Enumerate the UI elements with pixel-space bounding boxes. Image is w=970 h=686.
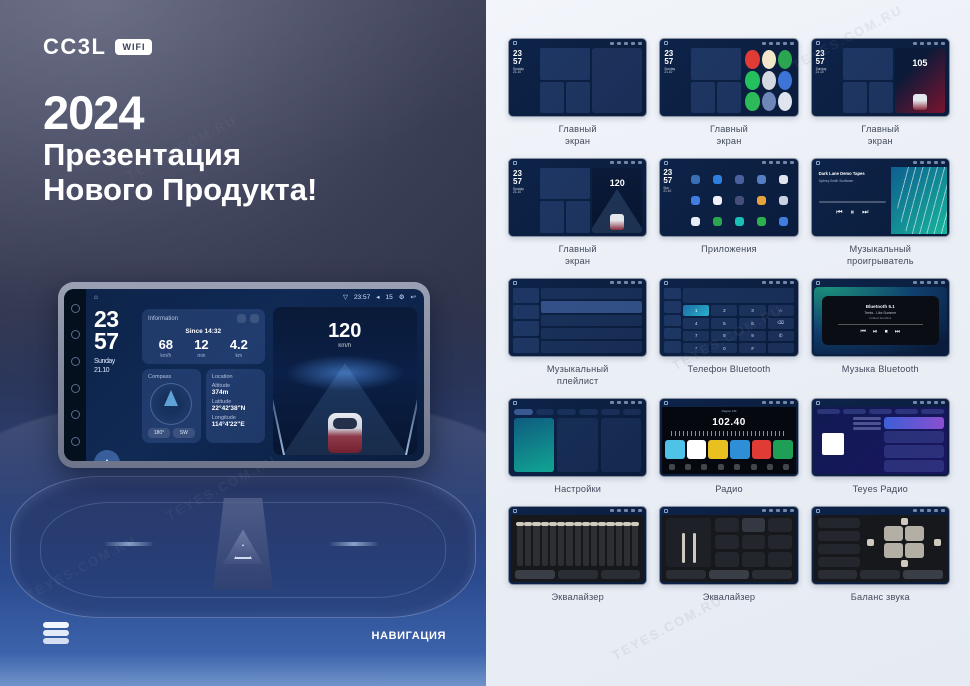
- thumb-status-bar: [509, 399, 646, 407]
- stop-icon[interactable]: ⏹: [885, 329, 888, 336]
- app-icon-google[interactable]: [685, 212, 706, 232]
- key-1[interactable]: 1: [683, 305, 709, 316]
- thumbnail-sound-balance[interactable]: [811, 506, 950, 585]
- track-meta: [853, 417, 881, 472]
- app-icon-clock[interactable]: [707, 190, 728, 210]
- hero-panel: ⌂ ▽ 23:57 ◂ 15 ⚙ ↩ 23 57: [0, 0, 486, 686]
- key-7[interactable]: 7: [683, 331, 709, 342]
- app-icon-filemanager[interactable]: [751, 190, 772, 210]
- app-icon-chrome[interactable]: [685, 190, 706, 210]
- gallery-item[interactable]: Dark Lane Demo Tapes Sydney Smith Sunflo…: [811, 158, 950, 268]
- gallery-caption: Главныйэкран: [559, 244, 597, 268]
- eq-preset-buttons[interactable]: [515, 570, 640, 579]
- rail-button-mute-icon[interactable]: [71, 304, 80, 313]
- gallery-item[interactable]: 2357Sunday21.10 105 Главныйэкран: [811, 38, 950, 148]
- call-icon[interactable]: ✆: [768, 331, 794, 342]
- gallery-item[interactable]: Эквалайзер: [508, 506, 647, 604]
- hero-headline: Презентация Нового Продукта!: [43, 137, 317, 207]
- backspace-icon[interactable]: ⌫: [768, 318, 794, 329]
- carplay-tile[interactable]: [557, 418, 597, 472]
- dial-keypad[interactable]: 123☆ 456⌫ 789✆ *0#: [683, 305, 794, 352]
- speed-unit: km/h: [273, 343, 417, 349]
- preset-stations[interactable]: [665, 440, 792, 460]
- clock-date: 21.10: [94, 367, 109, 374]
- app-icon-radio[interactable]: [773, 212, 794, 232]
- eq-tab-1[interactable]: [666, 570, 706, 579]
- settings-tabs[interactable]: [514, 409, 641, 415]
- tuning-scale[interactable]: [671, 431, 786, 436]
- thumb-speed: 120: [592, 178, 642, 188]
- radio-dock[interactable]: [665, 462, 792, 472]
- metric-speed: 68km/h: [159, 338, 173, 359]
- presentation-slide: ⌂ ▽ 23:57 ◂ 15 ⚙ ↩ 23 57: [0, 0, 970, 686]
- arrow-left-icon[interactable]: [867, 539, 874, 546]
- star-icon[interactable]: ☆: [768, 305, 794, 316]
- thumb-status-bar: [812, 159, 949, 167]
- thumbnail-apps[interactable]: 2357Sun21.10: [659, 158, 798, 237]
- thumbnail-bluetooth-phone[interactable]: 123☆ 456⌫ 789✆ *0#: [659, 278, 798, 357]
- thumb-status-bar: [660, 399, 797, 407]
- app-icon-playstore[interactable]: [751, 212, 772, 232]
- thumb-status-bar: [660, 507, 797, 515]
- ego-vehicle-icon: [328, 413, 362, 453]
- bt-subtitle: Coldest Sunshine: [869, 316, 891, 320]
- thumb-clock: 2357Sunday21.10: [664, 48, 689, 113]
- playlist-sidebar[interactable]: [513, 288, 539, 353]
- balance-tab-1[interactable]: [818, 570, 858, 579]
- thumbnail-radio[interactable]: Region FM 102.40: [659, 398, 798, 477]
- track-title: Dark Lane Demo Tapes: [819, 171, 886, 176]
- gallery-item[interactable]: Teyes Радио: [811, 398, 950, 496]
- gallery-item[interactable]: 2357Sunday21.10 Главныйэкран: [508, 38, 647, 148]
- screenshot-gallery: 2357Sunday21.10 Главныйэкран 2357Sunday2…: [486, 0, 970, 686]
- eq-mode-buttons[interactable]: [715, 518, 791, 567]
- thumb-status-bar: [509, 39, 646, 47]
- eq-tab-2[interactable]: [709, 570, 749, 579]
- dial-display[interactable]: [683, 288, 794, 304]
- next-icon[interactable]: ⏭: [895, 329, 900, 336]
- gallery-caption: Настройки: [554, 484, 601, 496]
- eq-band-sliders[interactable]: [515, 518, 640, 570]
- key-3[interactable]: 3: [739, 305, 765, 316]
- key-6[interactable]: 6: [739, 318, 765, 329]
- thumb-clock: 2357Sunday21.10: [513, 48, 538, 113]
- gallery-item[interactable]: Баланс звука: [811, 506, 950, 604]
- app-icon-bluetooth[interactable]: [707, 169, 728, 189]
- home-left-column: 23 57 Sunday 21.10 Information: [86, 289, 269, 461]
- gallery-caption: Teyes Радио: [853, 484, 908, 496]
- app-icon-music[interactable]: [729, 212, 750, 232]
- thumbnail-home-drive[interactable]: 2357Sunday21.10 120: [508, 158, 647, 237]
- gallery-caption: Эквалайзер: [703, 592, 755, 604]
- clock-minutes: 57: [94, 331, 138, 353]
- head-unit-screen: ⌂ ▽ 23:57 ◂ 15 ⚙ ↩ 23 57: [64, 289, 424, 461]
- visualizer: [891, 167, 947, 234]
- thumbnail-music-player[interactable]: Dark Lane Demo Tapes Sydney Smith Sunflo…: [811, 158, 950, 237]
- refresh-icon[interactable]: [237, 314, 246, 323]
- thumb-clock: 2357Sun21.10: [663, 167, 684, 234]
- gallery-caption: Музыка Bluetooth: [842, 364, 919, 376]
- arrow-down-icon[interactable]: [901, 560, 908, 567]
- compass-dial: [150, 383, 192, 425]
- hero-year: 2024: [43, 85, 144, 140]
- gallery-caption: Телефон Bluetooth: [688, 364, 771, 376]
- since-label: Since 14:32: [148, 328, 259, 335]
- settings-tiles[interactable]: [514, 418, 641, 472]
- play-pause-icon[interactable]: ⏯: [873, 329, 878, 336]
- gallery-item[interactable]: 123☆ 456⌫ 789✆ *0# Телефон Bluetooth: [659, 278, 798, 388]
- station-list[interactable]: [884, 417, 944, 472]
- longitude-row: Longitude 114°4'22"E: [212, 415, 259, 428]
- information-card[interactable]: Information Since 14:32 68km/h 12min 4.2…: [142, 309, 265, 364]
- rail-button-volume-up-icon[interactable]: [71, 437, 80, 446]
- product-logo: CC3L WIFI: [43, 34, 152, 60]
- thumbnail-settings[interactable]: [508, 398, 647, 477]
- speed-value: 120: [273, 321, 417, 341]
- vent-slat: [330, 542, 378, 546]
- gallery-caption: Музыкальныйплейлист: [547, 364, 609, 388]
- gallery-caption: Музыкальныйпроигрыватель: [847, 244, 914, 268]
- key-8[interactable]: 8: [711, 331, 737, 342]
- progress-bar[interactable]: [819, 201, 886, 203]
- next-icon[interactable]: ⏭: [862, 209, 868, 217]
- home-right-column: 120 km/h: [269, 289, 424, 461]
- thumb-status-bar: [509, 279, 646, 287]
- clock-widget: 23 57 Sunday 21.10: [94, 309, 138, 376]
- gallery-item[interactable]: 2357Sunday21.10 120 Главныйэкран: [508, 158, 647, 268]
- gallery-caption: Радио: [715, 484, 743, 496]
- rail-button-home-icon[interactable]: [71, 357, 80, 366]
- compass-direction: SW: [173, 428, 195, 438]
- radio-frequency: 102.40: [665, 417, 792, 428]
- gallery-item[interactable]: Эквалайзер: [659, 506, 798, 604]
- playlist-rows[interactable]: [541, 288, 642, 353]
- balance-tab-2[interactable]: [860, 570, 900, 579]
- metric-distance: 4.2km: [230, 338, 248, 359]
- playback-controls[interactable]: ⏮ ⏸ ⏭: [819, 209, 886, 217]
- thumb-clock: 2357Sunday21.10: [513, 168, 538, 233]
- compass-card[interactable]: Compass 180° SW: [142, 369, 201, 443]
- more-tile[interactable]: [601, 418, 641, 472]
- thumb-speed: 105: [895, 58, 945, 68]
- thumbnail-home-drive-red[interactable]: 2357Sunday21.10 105: [811, 38, 950, 117]
- head-unit-device: ⌂ ▽ 23:57 ◂ 15 ⚙ ↩ 23 57: [58, 282, 430, 468]
- thumb-app-drawer: [743, 48, 793, 113]
- thumbnail-home-media[interactable]: 2357Sunday21.10: [508, 38, 647, 117]
- gallery-item[interactable]: Настройки: [508, 398, 647, 496]
- key-4[interactable]: 4: [683, 318, 709, 329]
- thumbnail-equalizer-faders[interactable]: [659, 506, 798, 585]
- pause-icon[interactable]: ⏸: [851, 209, 855, 217]
- information-card-title: Information: [148, 316, 178, 322]
- radio-band: Region FM: [665, 409, 792, 413]
- thumbnail-equalizer-bands[interactable]: [508, 506, 647, 585]
- logo-model: CC3L: [43, 34, 106, 60]
- drive-assist-panel[interactable]: 120 km/h: [273, 307, 417, 455]
- gallery-caption: Главныйэкран: [710, 124, 748, 148]
- arrow-up-icon[interactable]: [901, 518, 908, 525]
- thumb-drive-panel: 105: [895, 48, 945, 113]
- gallery-caption: Баланс звука: [851, 592, 910, 604]
- balance-tab-3[interactable]: [903, 570, 943, 579]
- thumb-status-bar: [812, 279, 949, 287]
- previous-icon[interactable]: ⏮: [836, 209, 842, 217]
- volume-icon[interactable]: ◂: [376, 293, 379, 301]
- balance-pad[interactable]: [865, 518, 943, 567]
- gallery-item[interactable]: Музыкальныйплейлист: [508, 278, 647, 388]
- thumb-status-bar: [812, 507, 949, 515]
- navigation-label: НАВИГАЦИЯ: [372, 630, 446, 642]
- navigation-fab[interactable]: [94, 450, 120, 461]
- location-card[interactable]: Location Altitude 374m Latitude 22°42'38…: [206, 369, 265, 443]
- gallery-item[interactable]: 2357Sunday21.10 Главныйэкран: [659, 38, 798, 148]
- compass-card-title: Compass: [148, 374, 195, 380]
- gallery-caption: Главныйэкран: [559, 124, 597, 148]
- thumbnail-home-apps[interactable]: 2357Sunday21.10: [659, 38, 798, 117]
- seat-diagram: [884, 526, 924, 558]
- album-art: [817, 417, 850, 472]
- bluetooth-version: Bluetooth 5.1: [866, 304, 895, 309]
- gallery-item[interactable]: Region FM 102.40 Радио: [659, 398, 798, 496]
- wifi-tile[interactable]: [514, 418, 554, 472]
- previous-icon[interactable]: ⏮: [861, 329, 866, 336]
- status-volume: 15: [385, 294, 392, 301]
- side-button-rail[interactable]: [64, 289, 86, 461]
- thumb-status-bar: [660, 159, 797, 167]
- back-icon[interactable]: ↩: [411, 293, 416, 301]
- compass-heading: 180°: [148, 428, 170, 438]
- gallery-grid: 2357Sunday21.10 Главныйэкран 2357Sunday2…: [508, 38, 950, 604]
- app-icon-bluetooth-music[interactable]: [729, 169, 750, 189]
- thumb-clock: 2357Sunday21.10: [816, 48, 841, 113]
- thumbnail-bluetooth-music[interactable]: Bluetooth 5.1 Teeks - Like Summer Coldes…: [811, 278, 950, 357]
- thumbnail-teyes-radio[interactable]: [811, 398, 950, 477]
- key-hash[interactable]: #: [739, 343, 765, 353]
- progress-bar[interactable]: [838, 324, 922, 325]
- latitude-row: Latitude 22°42'38"N: [212, 399, 259, 412]
- fader-sliders[interactable]: [666, 518, 711, 567]
- bt-track: Teeks - Like Summer: [864, 311, 896, 315]
- app-icon-maps[interactable]: [707, 212, 728, 232]
- gallery-item[interactable]: Bluetooth 5.1 Teeks - Like Summer Coldes…: [811, 278, 950, 388]
- status-bar: ⌂ ▽ 23:57 ◂ 15 ⚙ ↩: [86, 289, 424, 305]
- gallery-caption: Эквалайзер: [551, 592, 603, 604]
- status-home-icon[interactable]: ⌂: [94, 294, 337, 301]
- thumb-status-bar: [812, 399, 949, 407]
- layers-icon: [43, 622, 69, 644]
- logo-wifi-badge: WIFI: [115, 39, 152, 55]
- thumb-status-bar: [812, 39, 949, 47]
- thumb-media-widget: [592, 48, 642, 113]
- thumb-status-bar: [509, 507, 646, 515]
- balance-presets[interactable]: [818, 518, 861, 567]
- key-0[interactable]: 0: [711, 343, 737, 353]
- rail-button-power-icon[interactable]: [71, 330, 80, 339]
- eq-tab-3[interactable]: [752, 570, 792, 579]
- thumb-status-bar: [660, 279, 797, 287]
- gallery-caption: Приложения: [701, 244, 757, 256]
- expand-icon[interactable]: [250, 314, 259, 323]
- playback-controls[interactable]: ⏮ ⏯ ⏹ ⏭: [861, 329, 901, 336]
- track-artist: Sydney Smith Sunflower: [819, 179, 886, 183]
- app-icon-calculator[interactable]: [751, 169, 772, 189]
- arrow-right-icon[interactable]: [934, 539, 941, 546]
- thumb-status-bar: [509, 159, 646, 167]
- key-star[interactable]: *: [683, 343, 709, 353]
- metric-duration: 12min: [194, 338, 208, 359]
- teyes-tabs[interactable]: [817, 409, 944, 414]
- app-icon-grid[interactable]: [684, 167, 794, 234]
- rail-button-back-icon[interactable]: [71, 384, 80, 393]
- thumb-status-bar: [660, 39, 797, 47]
- key-2[interactable]: 2: [711, 305, 737, 316]
- wifi-icon: ▽: [343, 293, 348, 301]
- app-icon-aux[interactable]: [685, 169, 706, 189]
- key-5[interactable]: 5: [711, 318, 737, 329]
- rail-button-volume-down-icon[interactable]: [71, 410, 80, 419]
- location-card-title: Location: [212, 374, 259, 380]
- gear-icon[interactable]: ⚙: [399, 293, 405, 301]
- gallery-item[interactable]: 2357Sun21.10: [659, 158, 798, 268]
- thumb-drive-panel: 120: [592, 168, 642, 233]
- vent-slat: [105, 542, 153, 546]
- key-blank[interactable]: [768, 343, 794, 353]
- gallery-caption: Главныйэкран: [861, 124, 899, 148]
- app-icon-dvr[interactable]: [729, 190, 750, 210]
- clock-weekday: Sunday: [94, 358, 115, 365]
- altitude-row: Altitude 374m: [212, 383, 259, 396]
- status-time: 23:57: [354, 294, 370, 301]
- phone-sidebar[interactable]: [664, 288, 681, 353]
- head-unit-body: ⌂ ▽ 23:57 ◂ 15 ⚙ ↩ 23 57: [86, 289, 424, 461]
- app-icon-gallery[interactable]: [773, 190, 794, 210]
- thumbnail-music-playlist[interactable]: [508, 278, 647, 357]
- key-9[interactable]: 9: [739, 331, 765, 342]
- app-icon-camera[interactable]: [773, 169, 794, 189]
